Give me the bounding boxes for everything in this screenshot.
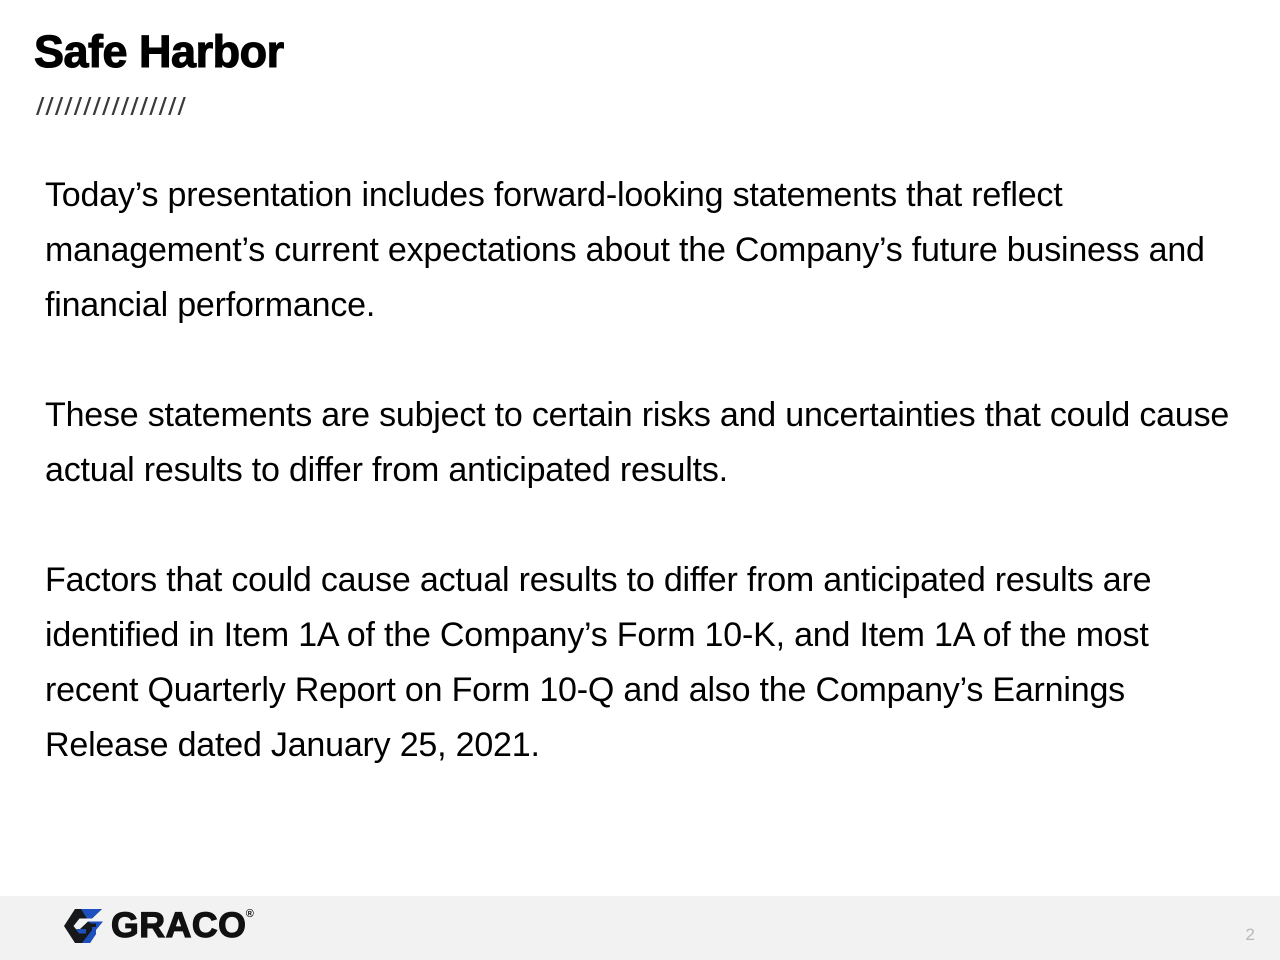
graco-logo: GRACO ® [62,906,254,946]
slide: Safe Harbor //////////////// Today’s pre… [0,0,1280,960]
title-underline-slashes: //////////////// [36,96,187,119]
body-copy: Today’s presentation includes forward-lo… [45,168,1245,773]
paragraph-risks-and-uncertainties: These statements are subject to certain … [45,388,1245,498]
paragraph-forward-looking-statements: Today’s presentation includes forward-lo… [45,168,1245,333]
graco-wordmark: GRACO [111,909,246,943]
graco-logo-mark-icon [62,909,104,943]
page-title: Safe Harbor [34,26,284,78]
page-number: 2 [1246,925,1255,945]
registered-trademark-icon: ® [246,909,254,920]
paragraph-risk-factor-references: Factors that could cause actual results … [45,553,1245,773]
